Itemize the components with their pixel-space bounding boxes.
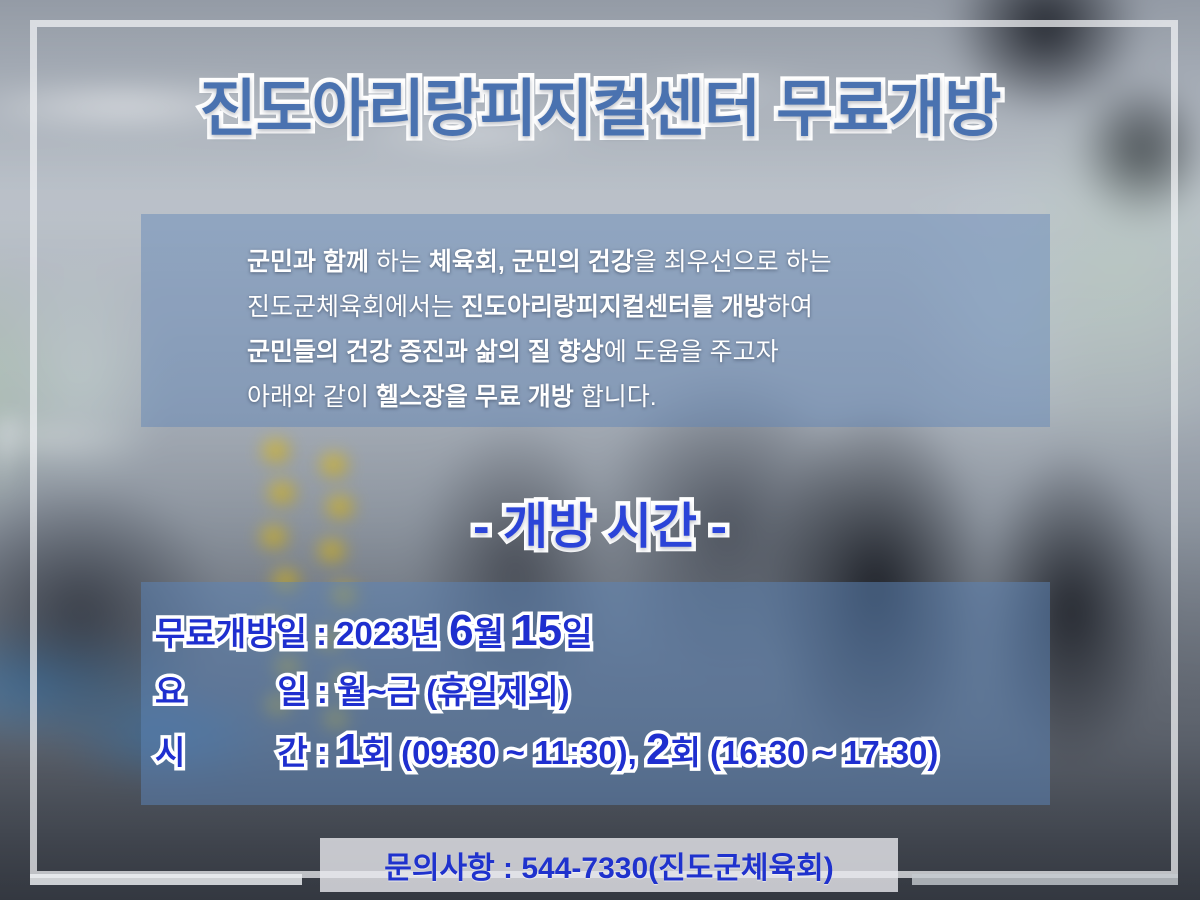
schedule-row-label-2: 일 (277, 673, 307, 710)
intro-emphasis: 진도아리랑피지컬센터를 개방 (461, 293, 767, 321)
schedule-value-highlight: 2 (646, 725, 670, 774)
intro-text: 을 최우선으로 하는 (634, 248, 832, 276)
contact-band: 문의사항 : 544-7330(진도군체육회) (320, 838, 898, 892)
schedule-value: 월~금 (휴일제외) (337, 673, 570, 710)
intro-line: 군민들의 건강 증진과 삶의 질 향상에 도움을 주고자 (247, 330, 1050, 375)
schedule-separator: : (308, 673, 337, 710)
poster-canvas: 진도아리랑피지컬센터 무료개방 군민과 함께 하는 체육회, 군민의 건강을 최… (0, 0, 1200, 900)
decorative-bar-left (30, 874, 302, 885)
schedule-value-highlight: 6 (449, 606, 473, 655)
schedule-separator: : (307, 615, 336, 652)
schedule-row-label: 요 (155, 673, 185, 710)
schedule-row-label: 시 (155, 734, 185, 771)
intro-text: 하는 (369, 248, 429, 276)
intro-line: 진도군체육회에서는 진도아리랑피지컬센터를 개방하여 (247, 285, 1050, 330)
intro-paragraph: 군민과 함께 하는 체육회, 군민의 건강을 최우선으로 하는진도군체육회에서는… (247, 240, 1050, 420)
schedule-value: 회 (09:30 ~ 11:30), (362, 734, 646, 771)
intro-emphasis: 군민들의 건강 증진과 삶의 질 향상 (247, 338, 604, 366)
schedule-row: 요일 : 월~금 (휴일제외) (155, 663, 1050, 721)
schedule-value: 월 (474, 615, 514, 652)
poster-title: 진도아리랑피지컬센터 무료개방 (0, 58, 1200, 148)
schedule-list: 무료개방일 : 2023년 6월 15일요일 : 월~금 (휴일제외)시간 : … (155, 602, 1050, 782)
section-heading-opening-hours: - 개방 시간 - (0, 487, 1200, 558)
intro-line: 아래와 같이 헬스장을 무료 개방 합니다. (247, 375, 1050, 420)
schedule-row: 무료개방일 : 2023년 6월 15일 (155, 602, 1050, 663)
schedule-value: 일 (562, 615, 592, 652)
decorative-bar-right (912, 874, 1178, 885)
schedule-value-highlight: 15 (513, 606, 562, 655)
intro-text: 하여 (767, 293, 813, 321)
intro-text: 에 도움을 주고자 (604, 338, 779, 366)
contact-text: 문의사항 : 544-7330(진도군체육회) (384, 843, 833, 887)
intro-line: 군민과 함께 하는 체육회, 군민의 건강을 최우선으로 하는 (247, 240, 1050, 285)
schedule-panel: 무료개방일 : 2023년 6월 15일요일 : 월~금 (휴일제외)시간 : … (141, 582, 1050, 805)
schedule-row-label-2: 간 (277, 734, 307, 771)
schedule-value-highlight: 1 (337, 725, 361, 774)
intro-text-panel: 군민과 함께 하는 체육회, 군민의 건강을 최우선으로 하는진도군체육회에서는… (141, 214, 1050, 427)
intro-text: 아래와 같이 (247, 383, 376, 411)
schedule-value: 2023년 (336, 615, 449, 652)
intro-text: 진도군체육회에서는 (247, 293, 461, 321)
schedule-row: 시간 : 1회 (09:30 ~ 11:30), 2회 (16:30 ~ 17:… (155, 721, 1050, 782)
schedule-value: 회 (16:30 ~ 17:30) (670, 734, 938, 771)
intro-emphasis: 군민과 함께 (247, 248, 369, 276)
intro-text: 합니다. (574, 383, 657, 411)
intro-emphasis: 체육회, 군민의 건강 (429, 248, 634, 276)
intro-emphasis: 헬스장을 무료 개방 (376, 383, 574, 411)
schedule-separator: : (308, 734, 337, 771)
schedule-row-label: 무료개방일 (155, 615, 307, 652)
